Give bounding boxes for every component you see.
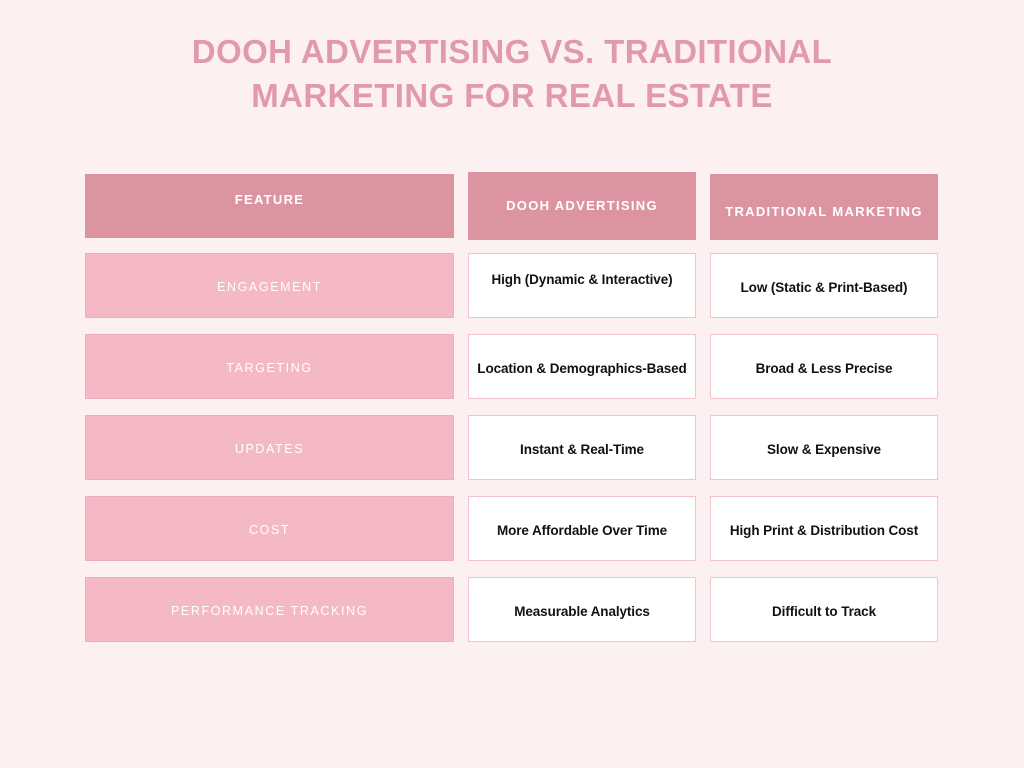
dooh-value-cost: More Affordable Over Time: [468, 496, 696, 561]
page-title-line-2: MARKETING FOR REAL ESTATE: [0, 74, 1024, 118]
page-title: DOOH ADVERTISING VS. TRADITIONAL MARKETI…: [0, 30, 1024, 118]
column-header-traditional-marketing: TRADITIONAL MARKETING: [710, 174, 938, 240]
feature-label-cost: COST: [85, 496, 454, 561]
feature-label-updates: UPDATES: [85, 415, 454, 480]
table-row: COST More Affordable Over Time High Prin…: [85, 485, 940, 566]
table-row: PERFORMANCE TRACKING Measurable Analytic…: [85, 566, 940, 647]
dooh-value-updates: Instant & Real-Time: [468, 415, 696, 480]
dooh-value-performance-tracking: Measurable Analytics: [468, 577, 696, 642]
table-row: UPDATES Instant & Real-Time Slow & Expen…: [85, 404, 940, 485]
dooh-value-engagement: High (Dynamic & Interactive): [468, 253, 696, 318]
traditional-value-engagement: Low (Static & Print-Based): [710, 253, 938, 318]
traditional-value-updates: Slow & Expensive: [710, 415, 938, 480]
table-header-row: FEATURE DOOH ADVERTISING TRADITIONAL MAR…: [85, 170, 940, 242]
dooh-value-targeting: Location & Demographics-Based: [468, 334, 696, 399]
traditional-value-cost: High Print & Distribution Cost: [710, 496, 938, 561]
feature-label-performance-tracking: PERFORMANCE TRACKING: [85, 577, 454, 642]
feature-label-targeting: TARGETING: [85, 334, 454, 399]
feature-label-engagement: ENGAGEMENT: [85, 253, 454, 318]
traditional-value-targeting: Broad & Less Precise: [710, 334, 938, 399]
comparison-infographic: DOOH ADVERTISING VS. TRADITIONAL MARKETI…: [0, 0, 1024, 768]
column-header-feature: FEATURE: [85, 174, 454, 238]
table-row: TARGETING Location & Demographics-Based …: [85, 323, 940, 404]
column-header-dooh-advertising: DOOH ADVERTISING: [468, 172, 696, 240]
traditional-value-performance-tracking: Difficult to Track: [710, 577, 938, 642]
comparison-table: FEATURE DOOH ADVERTISING TRADITIONAL MAR…: [85, 170, 940, 647]
table-row: ENGAGEMENT High (Dynamic & Interactive) …: [85, 242, 940, 323]
page-title-line-1: DOOH ADVERTISING VS. TRADITIONAL: [0, 30, 1024, 74]
